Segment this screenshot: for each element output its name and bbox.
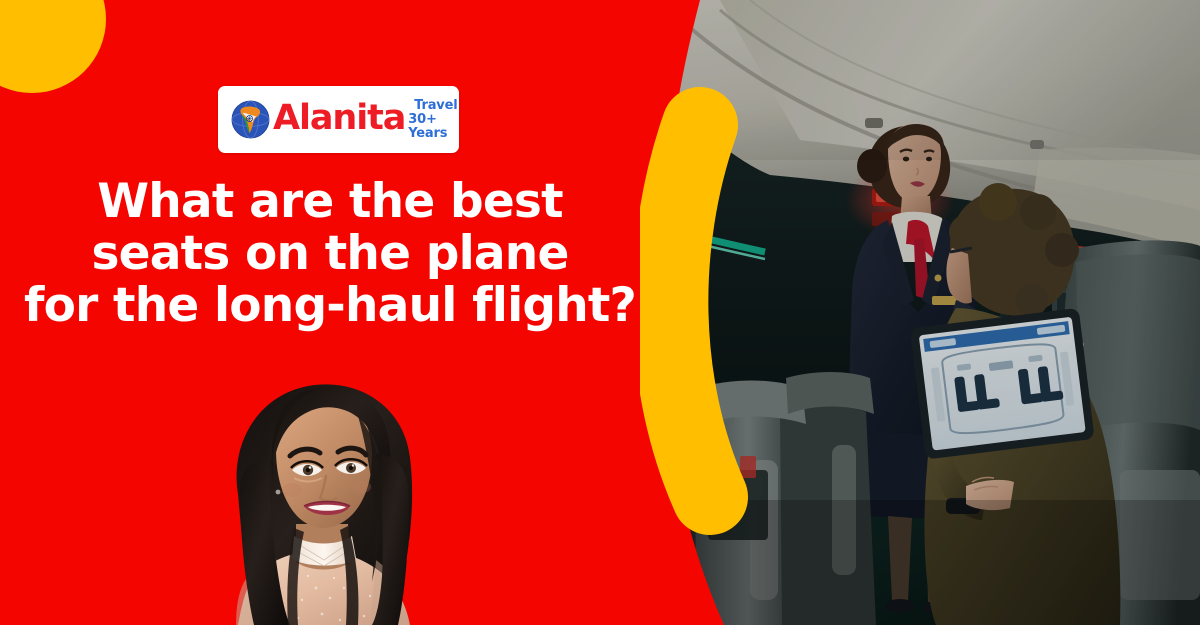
logo-wordmark: Alanita bbox=[273, 101, 405, 136]
headline: What are the best seats on the plane for… bbox=[0, 176, 700, 332]
alanita-logo[interactable]: Alanita Travel 30+ Years bbox=[218, 86, 459, 153]
headline-line-2: seats on the plane bbox=[0, 228, 660, 280]
headline-line-1: What are the best bbox=[0, 176, 660, 228]
logo-tagline: Travel 30+ Years bbox=[408, 99, 457, 140]
logo-tagline-line2: 30+ Years bbox=[408, 113, 457, 141]
logo-tagline-line1: Travel bbox=[408, 99, 457, 113]
promo-banner: Alanita Travel 30+ Years What are the be… bbox=[0, 0, 1200, 625]
globe-india-icon bbox=[231, 100, 270, 139]
headline-line-3: for the long-haul flight? bbox=[0, 280, 660, 332]
presenter-portrait bbox=[198, 376, 448, 625]
